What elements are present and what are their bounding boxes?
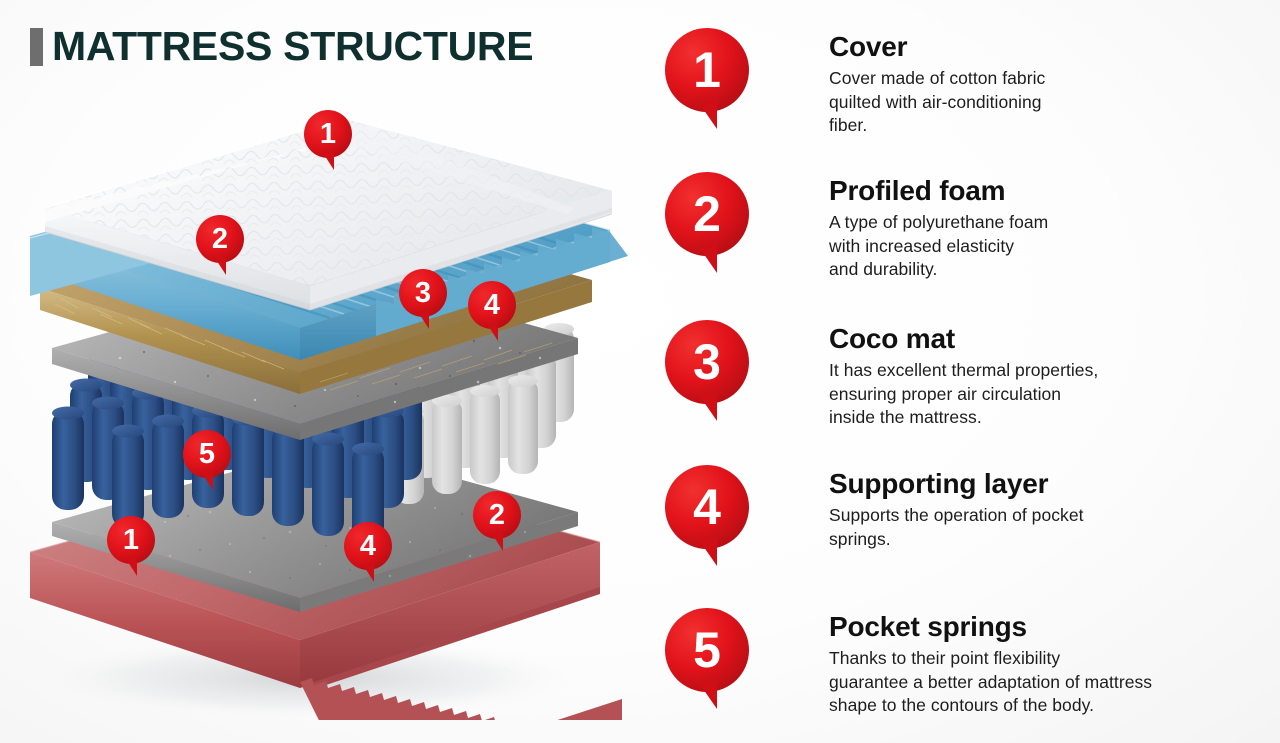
- legend-marker-number: 2: [665, 172, 749, 256]
- marker-number: 1: [304, 110, 352, 158]
- illustration-marker-3-coco-mat[interactable]: 3: [399, 269, 447, 331]
- legend-pin-4[interactable]: 4: [665, 465, 749, 569]
- legend-pin-3[interactable]: 3: [665, 320, 749, 424]
- legend-text-block: Pocket springs Thanks to their point fle…: [749, 608, 1152, 718]
- marker-number: 2: [196, 215, 244, 263]
- legend-item-pocket-springs[interactable]: 5 Pocket springs Thanks to their point f…: [665, 608, 1280, 718]
- legend-description: Supports the operation of pocket springs…: [829, 504, 1084, 551]
- legend-pin-5[interactable]: 5: [665, 608, 749, 712]
- legend-item-cover[interactable]: 1 Cover Cover made of cotton fabric quil…: [665, 28, 1280, 138]
- legend-description: Cover made of cotton fabric quilted with…: [829, 67, 1045, 138]
- legend-text-block: Cover Cover made of cotton fabric quilte…: [749, 28, 1045, 138]
- legend-item-supporting-layer[interactable]: 4 Supporting layer Supports the operatio…: [665, 465, 1280, 569]
- mattress-illustration: 1 2 3 4: [0, 60, 640, 720]
- legend-text-block: Coco mat It has excellent thermal proper…: [749, 320, 1098, 430]
- legend-title: Supporting layer: [829, 469, 1084, 499]
- legend-description: It has excellent thermal properties, ens…: [829, 359, 1098, 430]
- illustration-marker-5-pocket-springs[interactable]: 5: [183, 430, 231, 492]
- marker-number: 4: [468, 281, 516, 329]
- legend-marker-number: 4: [665, 465, 749, 549]
- infographic-canvas: MATTRESS STRUCTURE: [0, 0, 1280, 743]
- legend-text-block: Supporting layer Supports the operation …: [749, 465, 1084, 551]
- legend-marker-number: 1: [665, 28, 749, 112]
- legend-title: Coco mat: [829, 324, 1098, 354]
- marker-number: 1: [107, 516, 155, 564]
- legend-text-block: Profiled foam A type of polyurethane foa…: [749, 172, 1048, 282]
- illustration-marker-1-cover[interactable]: 1: [304, 110, 352, 172]
- legend-pin-2[interactable]: 2: [665, 172, 749, 276]
- legend-pin-1[interactable]: 1: [665, 28, 749, 132]
- legend-description: A type of polyurethane foam with increas…: [829, 211, 1048, 282]
- illustration-marker-4-lower-felt[interactable]: 4: [344, 522, 392, 584]
- legend-marker-number: 3: [665, 320, 749, 404]
- illustration-marker-1-base-foam[interactable]: 1: [107, 516, 155, 578]
- legend-marker-number: 5: [665, 608, 749, 692]
- marker-number: 3: [399, 269, 447, 317]
- marker-number: 2: [473, 491, 521, 539]
- illustration-marker-4-supporting-layer[interactable]: 4: [468, 281, 516, 343]
- marker-number: 4: [344, 522, 392, 570]
- illustration-marker-2-profiled-foam[interactable]: 2: [196, 215, 244, 277]
- legend-item-profiled-foam[interactable]: 2 Profiled foam A type of polyurethane f…: [665, 172, 1280, 282]
- illustration-marker-2-base-edge[interactable]: 2: [473, 491, 521, 553]
- legend-title: Pocket springs: [829, 612, 1152, 642]
- legend-list: 1 Cover Cover made of cotton fabric quil…: [665, 0, 1280, 743]
- legend-title: Cover: [829, 32, 1045, 62]
- legend-description: Thanks to their point flexibility guaran…: [829, 647, 1152, 718]
- legend-item-coco-mat[interactable]: 3 Coco mat It has excellent thermal prop…: [665, 320, 1280, 430]
- marker-number: 5: [183, 430, 231, 478]
- legend-title: Profiled foam: [829, 176, 1048, 206]
